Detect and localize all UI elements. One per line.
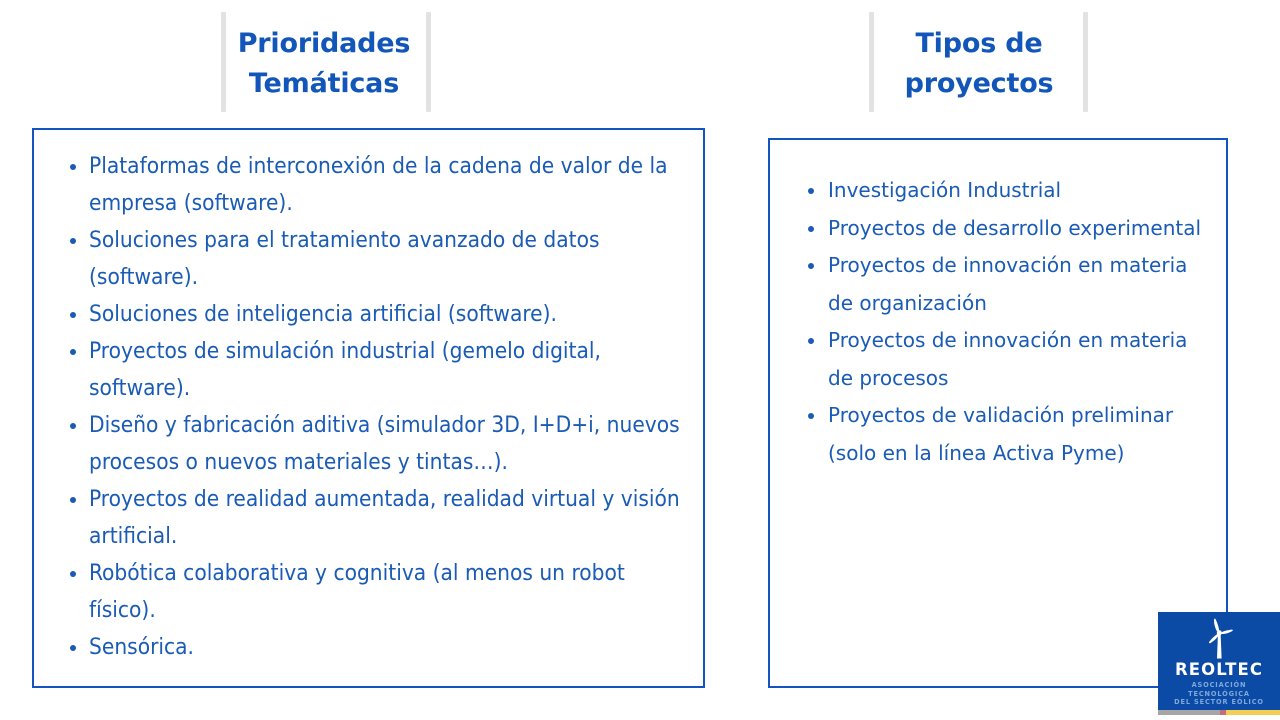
list-item: Investigación Industrial [806, 172, 1210, 210]
list-item: Plataformas de interconexión de la caden… [66, 148, 693, 222]
left-column-title-line1: Prioridades [236, 24, 412, 64]
priorities-panel: Plataformas de interconexión de la caden… [32, 128, 705, 688]
list-item: Diseño y fabricación aditiva (simulador … [66, 407, 693, 481]
right-column-title: Tipos de proyectos [884, 24, 1074, 104]
project-types-panel: Investigación Industrial Proyectos de de… [768, 138, 1228, 688]
logo-tagline-line2: TECNOLÓGICA [1158, 690, 1280, 699]
list-item: Proyectos de desarrollo experimental [806, 210, 1210, 248]
divider-bar-left-2 [426, 12, 431, 112]
right-column-title-line1: Tipos de [884, 24, 1074, 64]
wind-turbine-icon [1193, 618, 1245, 660]
list-item: Soluciones para el tratamiento avanzado … [66, 222, 693, 296]
list-item: Sensórica. [66, 629, 693, 666]
left-column-title: Prioridades Temáticas [236, 24, 412, 104]
list-item: Proyectos de validación preliminar (solo… [806, 397, 1210, 472]
logo-brand-text: REOLTEC [1158, 660, 1280, 679]
list-item: Soluciones de inteligencia artificial (s… [66, 296, 693, 333]
priorities-list: Plataformas de interconexión de la caden… [34, 148, 703, 666]
logo-tagline-line1: ASOCIACIÓN [1158, 681, 1280, 690]
logo-tagline: ASOCIACIÓN TECNOLÓGICA DEL SECTOR EÓLICO [1158, 681, 1280, 707]
logo-color-strip [1158, 710, 1280, 715]
list-item: Proyectos de realidad aumentada, realida… [66, 481, 693, 555]
list-item: Proyectos de innovación en materia de pr… [806, 322, 1210, 397]
reoltec-logo: REOLTEC ASOCIACIÓN TECNOLÓGICA DEL SECTO… [1158, 612, 1280, 710]
divider-bar-right-1 [869, 12, 874, 112]
project-types-list: Investigación Industrial Proyectos de de… [770, 172, 1226, 472]
list-item: Proyectos de simulación industrial (geme… [66, 333, 693, 407]
logo-tagline-line3: DEL SECTOR EÓLICO [1158, 698, 1280, 707]
strip-segment-grey [1158, 710, 1220, 715]
divider-bar-right-2 [1083, 12, 1088, 112]
left-column-title-line2: Temáticas [236, 64, 412, 104]
right-column-title-line2: proyectos [884, 64, 1074, 104]
strip-segment-yellow [1226, 710, 1280, 715]
divider-bar-left-1 [221, 12, 226, 112]
list-item: Proyectos de innovación en materia de or… [806, 247, 1210, 322]
list-item: Robótica colaborativa y cognitiva (al me… [66, 555, 693, 629]
headings-band: Prioridades Temáticas Tipos de proyectos [0, 0, 1280, 126]
